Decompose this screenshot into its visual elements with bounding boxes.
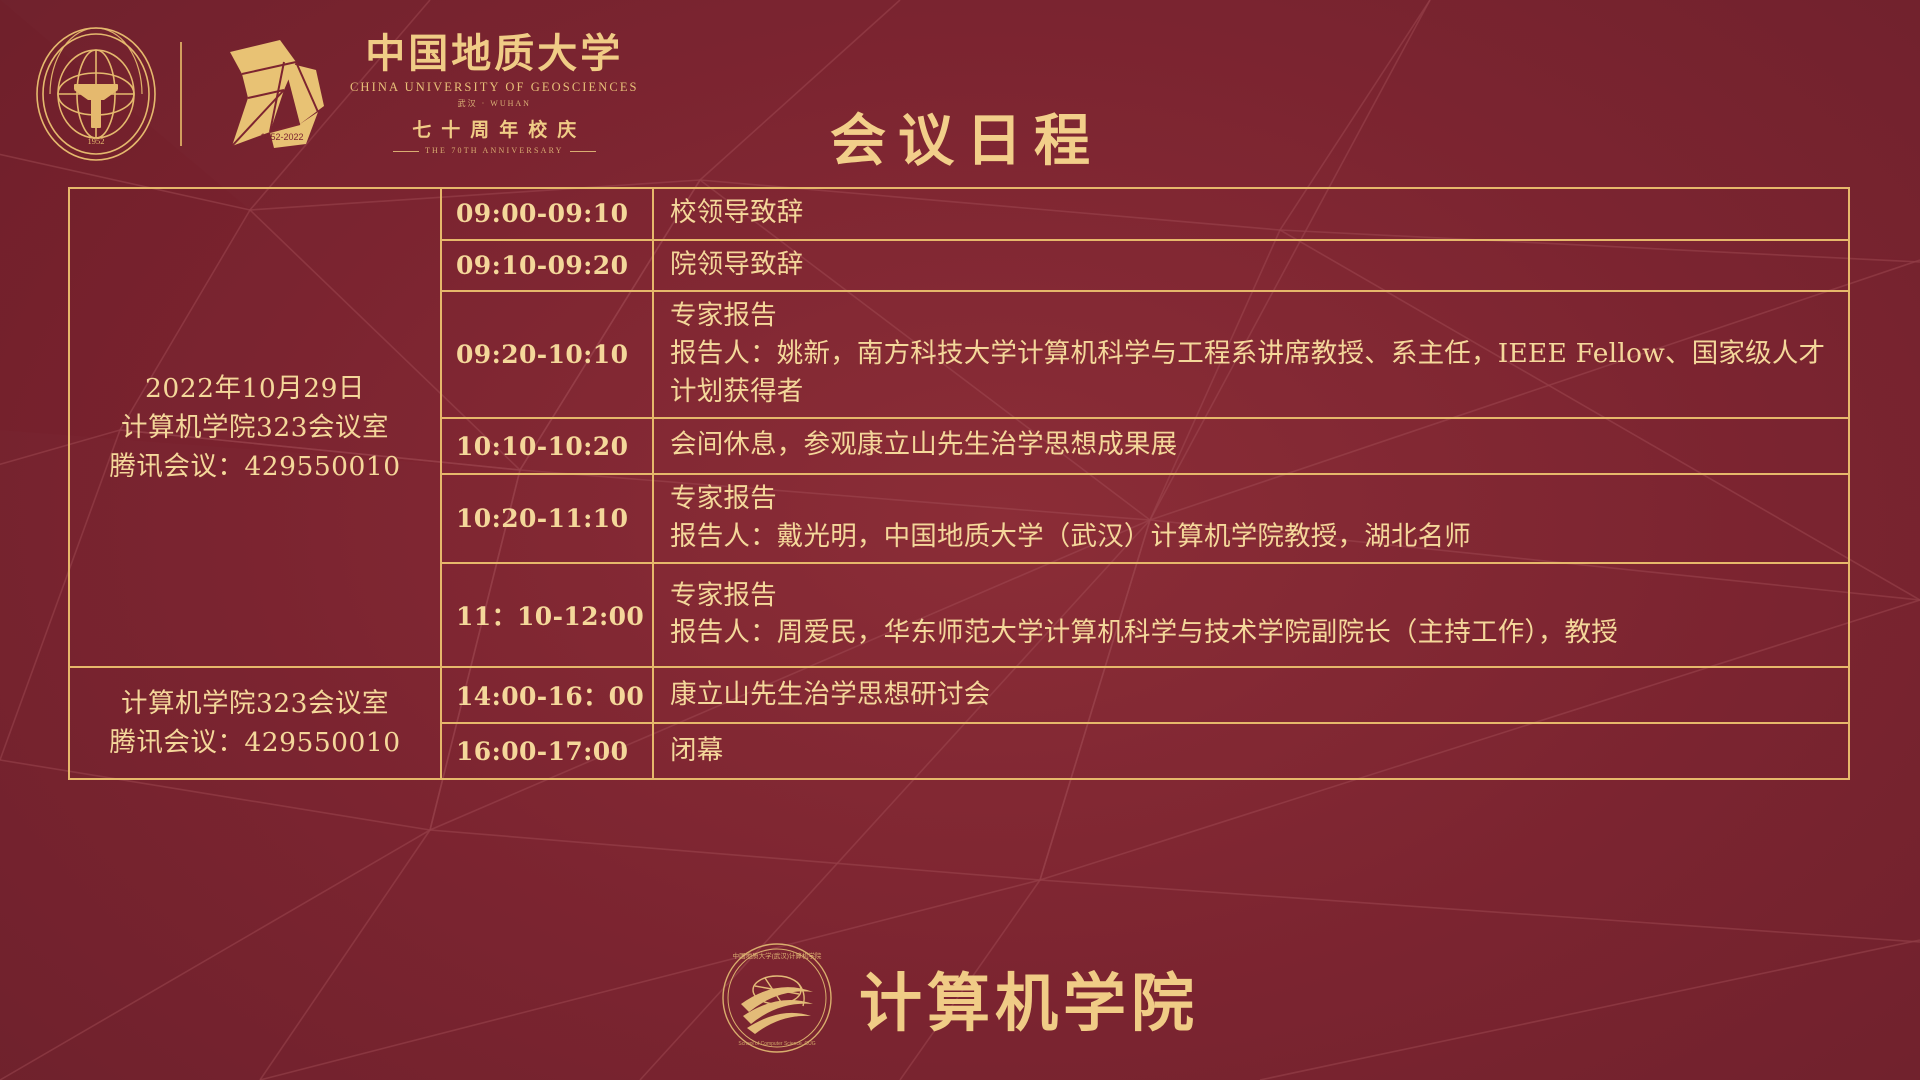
agenda-table-container: 2022年10月29日 计算机学院323会议室 腾讯会议：429550010 0… [68, 187, 1850, 780]
time-cell: 10:20-11:10 [441, 474, 653, 563]
time-cell: 09:20-10:10 [441, 291, 653, 418]
slide-header: 1952 [0, 0, 1920, 180]
school-name-label: 计算机学院 [859, 953, 1199, 1044]
detail-cell: 会间休息，参观康立山先生治学思想成果展 [653, 418, 1849, 474]
detail-cell: 专家报告 报告人：姚新，南方科技大学计算机科学与工程系讲席教授、系主任，IEEE… [653, 291, 1849, 418]
time-cell: 09:00-09:10 [441, 188, 653, 240]
university-name-cn: 中国地质大学 [365, 33, 623, 75]
table-row: 计算机学院323会议室 腾讯会议：429550010 14:00-16：00 康… [69, 667, 1849, 723]
time-cell: 11：10-12:00 [441, 563, 653, 667]
detail-cell: 校领导致辞 [653, 188, 1849, 240]
slide-footer: 中国地质大学(武汉)计算机学院 School of Computer Scien… [0, 942, 1920, 1054]
university-name-en: CHINA UNIVERSITY OF GEOSCIENCES [350, 80, 639, 95]
svg-text:中国地质大学(武汉)计算机学院: 中国地质大学(武汉)计算机学院 [733, 951, 822, 960]
time-cell: 16:00-17:00 [441, 723, 653, 779]
detail-cell: 院领导致辞 [653, 240, 1849, 292]
svg-text:School of Computer Science, CU: School of Computer Science, CUG [738, 1041, 815, 1047]
venue-cell-morning: 2022年10月29日 计算机学院323会议室 腾讯会议：429550010 [69, 188, 441, 667]
venue-cell-afternoon: 计算机学院323会议室 腾讯会议：429550010 [69, 667, 441, 779]
detail-cell: 康立山先生治学思想研讨会 [653, 667, 1849, 723]
table-row: 2022年10月29日 计算机学院323会议室 腾讯会议：429550010 0… [69, 188, 1849, 240]
detail-cell: 专家报告 报告人：周爱民，华东师范大学计算机科学与技术学院副院长（主持工作），教… [653, 563, 1849, 667]
time-cell: 10:10-10:20 [441, 418, 653, 474]
page-title: 会议日程 [0, 96, 1920, 177]
time-cell: 14:00-16：00 [441, 667, 653, 723]
detail-cell: 闭幕 [653, 723, 1849, 779]
slide-canvas: 1952 [0, 0, 1920, 1080]
time-cell: 09:10-09:20 [441, 240, 653, 292]
detail-cell: 专家报告 报告人：戴光明，中国地质大学（武汉）计算机学院教授，湖北名师 [653, 474, 1849, 563]
agenda-table: 2022年10月29日 计算机学院323会议室 腾讯会议：429550010 0… [68, 187, 1850, 780]
school-of-computer-science-seal-icon: 中国地质大学(武汉)计算机学院 School of Computer Scien… [721, 942, 833, 1054]
